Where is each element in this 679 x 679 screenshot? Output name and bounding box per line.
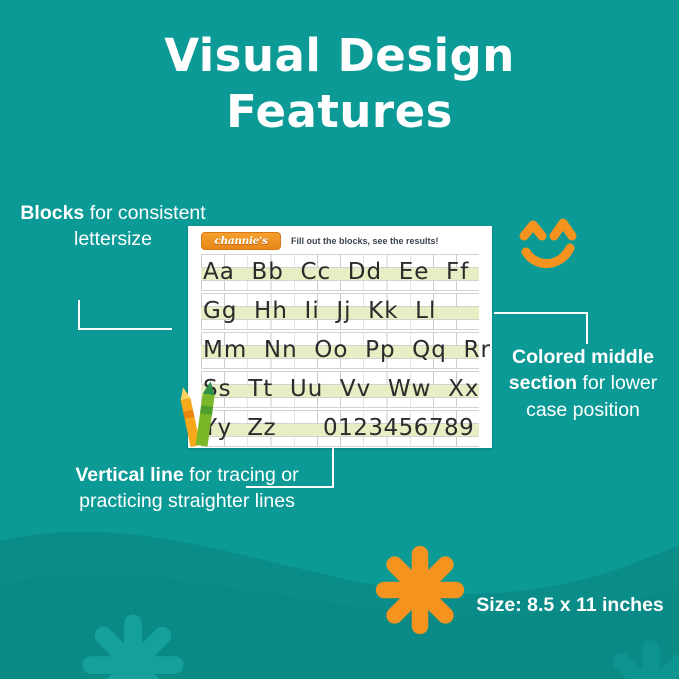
callout-blocks-bold: Blocks xyxy=(20,202,84,224)
worksheet-row-letters: Ss Tt Uu Vv Ww Xx xyxy=(201,372,479,407)
orange-asterisk-icon xyxy=(374,542,466,638)
callout-vertical-line: Vertical line for tracing or practicing … xyxy=(42,462,332,515)
callout-blocks: Blocks for consistent lettersize xyxy=(18,200,208,253)
crayons-icon xyxy=(172,378,232,450)
callout-vertical-bold: Vertical line xyxy=(75,464,183,486)
connector-blocks xyxy=(78,300,172,330)
worksheet-grid: Aa Bb Cc Dd Ee Ff Gg Hh Ii Jj Kk Ll Mm N… xyxy=(201,254,479,440)
worksheet-row-letters: Mm Nn Oo Pp Qq Rr xyxy=(201,333,479,368)
page-title-line2: Features xyxy=(0,84,679,140)
worksheet-row: Gg Hh Ii Jj Kk Ll xyxy=(201,293,479,330)
page-title-line1: Visual Design xyxy=(0,28,679,84)
worksheet-row-letters: Gg Hh Ii Jj Kk Ll xyxy=(201,294,479,329)
worksheet-poster[interactable]: channie's Fill out the blocks, see the r… xyxy=(188,226,492,448)
wave-divider xyxy=(0,489,679,679)
connector-colored-section xyxy=(494,312,588,344)
callout-size: Size: 8.5 x 11 inches xyxy=(470,592,670,618)
poster-tagline: Fill out the blocks, see the results! xyxy=(291,236,439,246)
page-title: Visual Design Features xyxy=(0,28,679,140)
worksheet-row-letters: Aa Bb Cc Dd Ee Ff xyxy=(201,255,479,290)
smiley-face-icon xyxy=(512,212,584,274)
worksheet-row: Mm Nn Oo Pp Qq Rr xyxy=(201,332,479,369)
poster-header: channie's Fill out the blocks, see the r… xyxy=(188,230,492,252)
channies-logo: channie's xyxy=(201,232,281,250)
worksheet-row: Aa Bb Cc Dd Ee Ff xyxy=(201,254,479,291)
callout-blocks-rest: for consistent lettersize xyxy=(74,202,206,250)
worksheet-row: Ss Tt Uu Vv Ww Xx xyxy=(201,371,479,408)
channies-logo-text: channie's xyxy=(214,236,267,247)
worksheet-row: Yy Zz 0123456789 xyxy=(201,410,479,447)
callout-colored-section: Colored middle section for lower case po… xyxy=(488,344,678,423)
poster-canvas: Visual Design Features Blocks for consis… xyxy=(0,0,679,679)
worksheet-row-letters: Yy Zz 0123456789 xyxy=(201,411,479,446)
